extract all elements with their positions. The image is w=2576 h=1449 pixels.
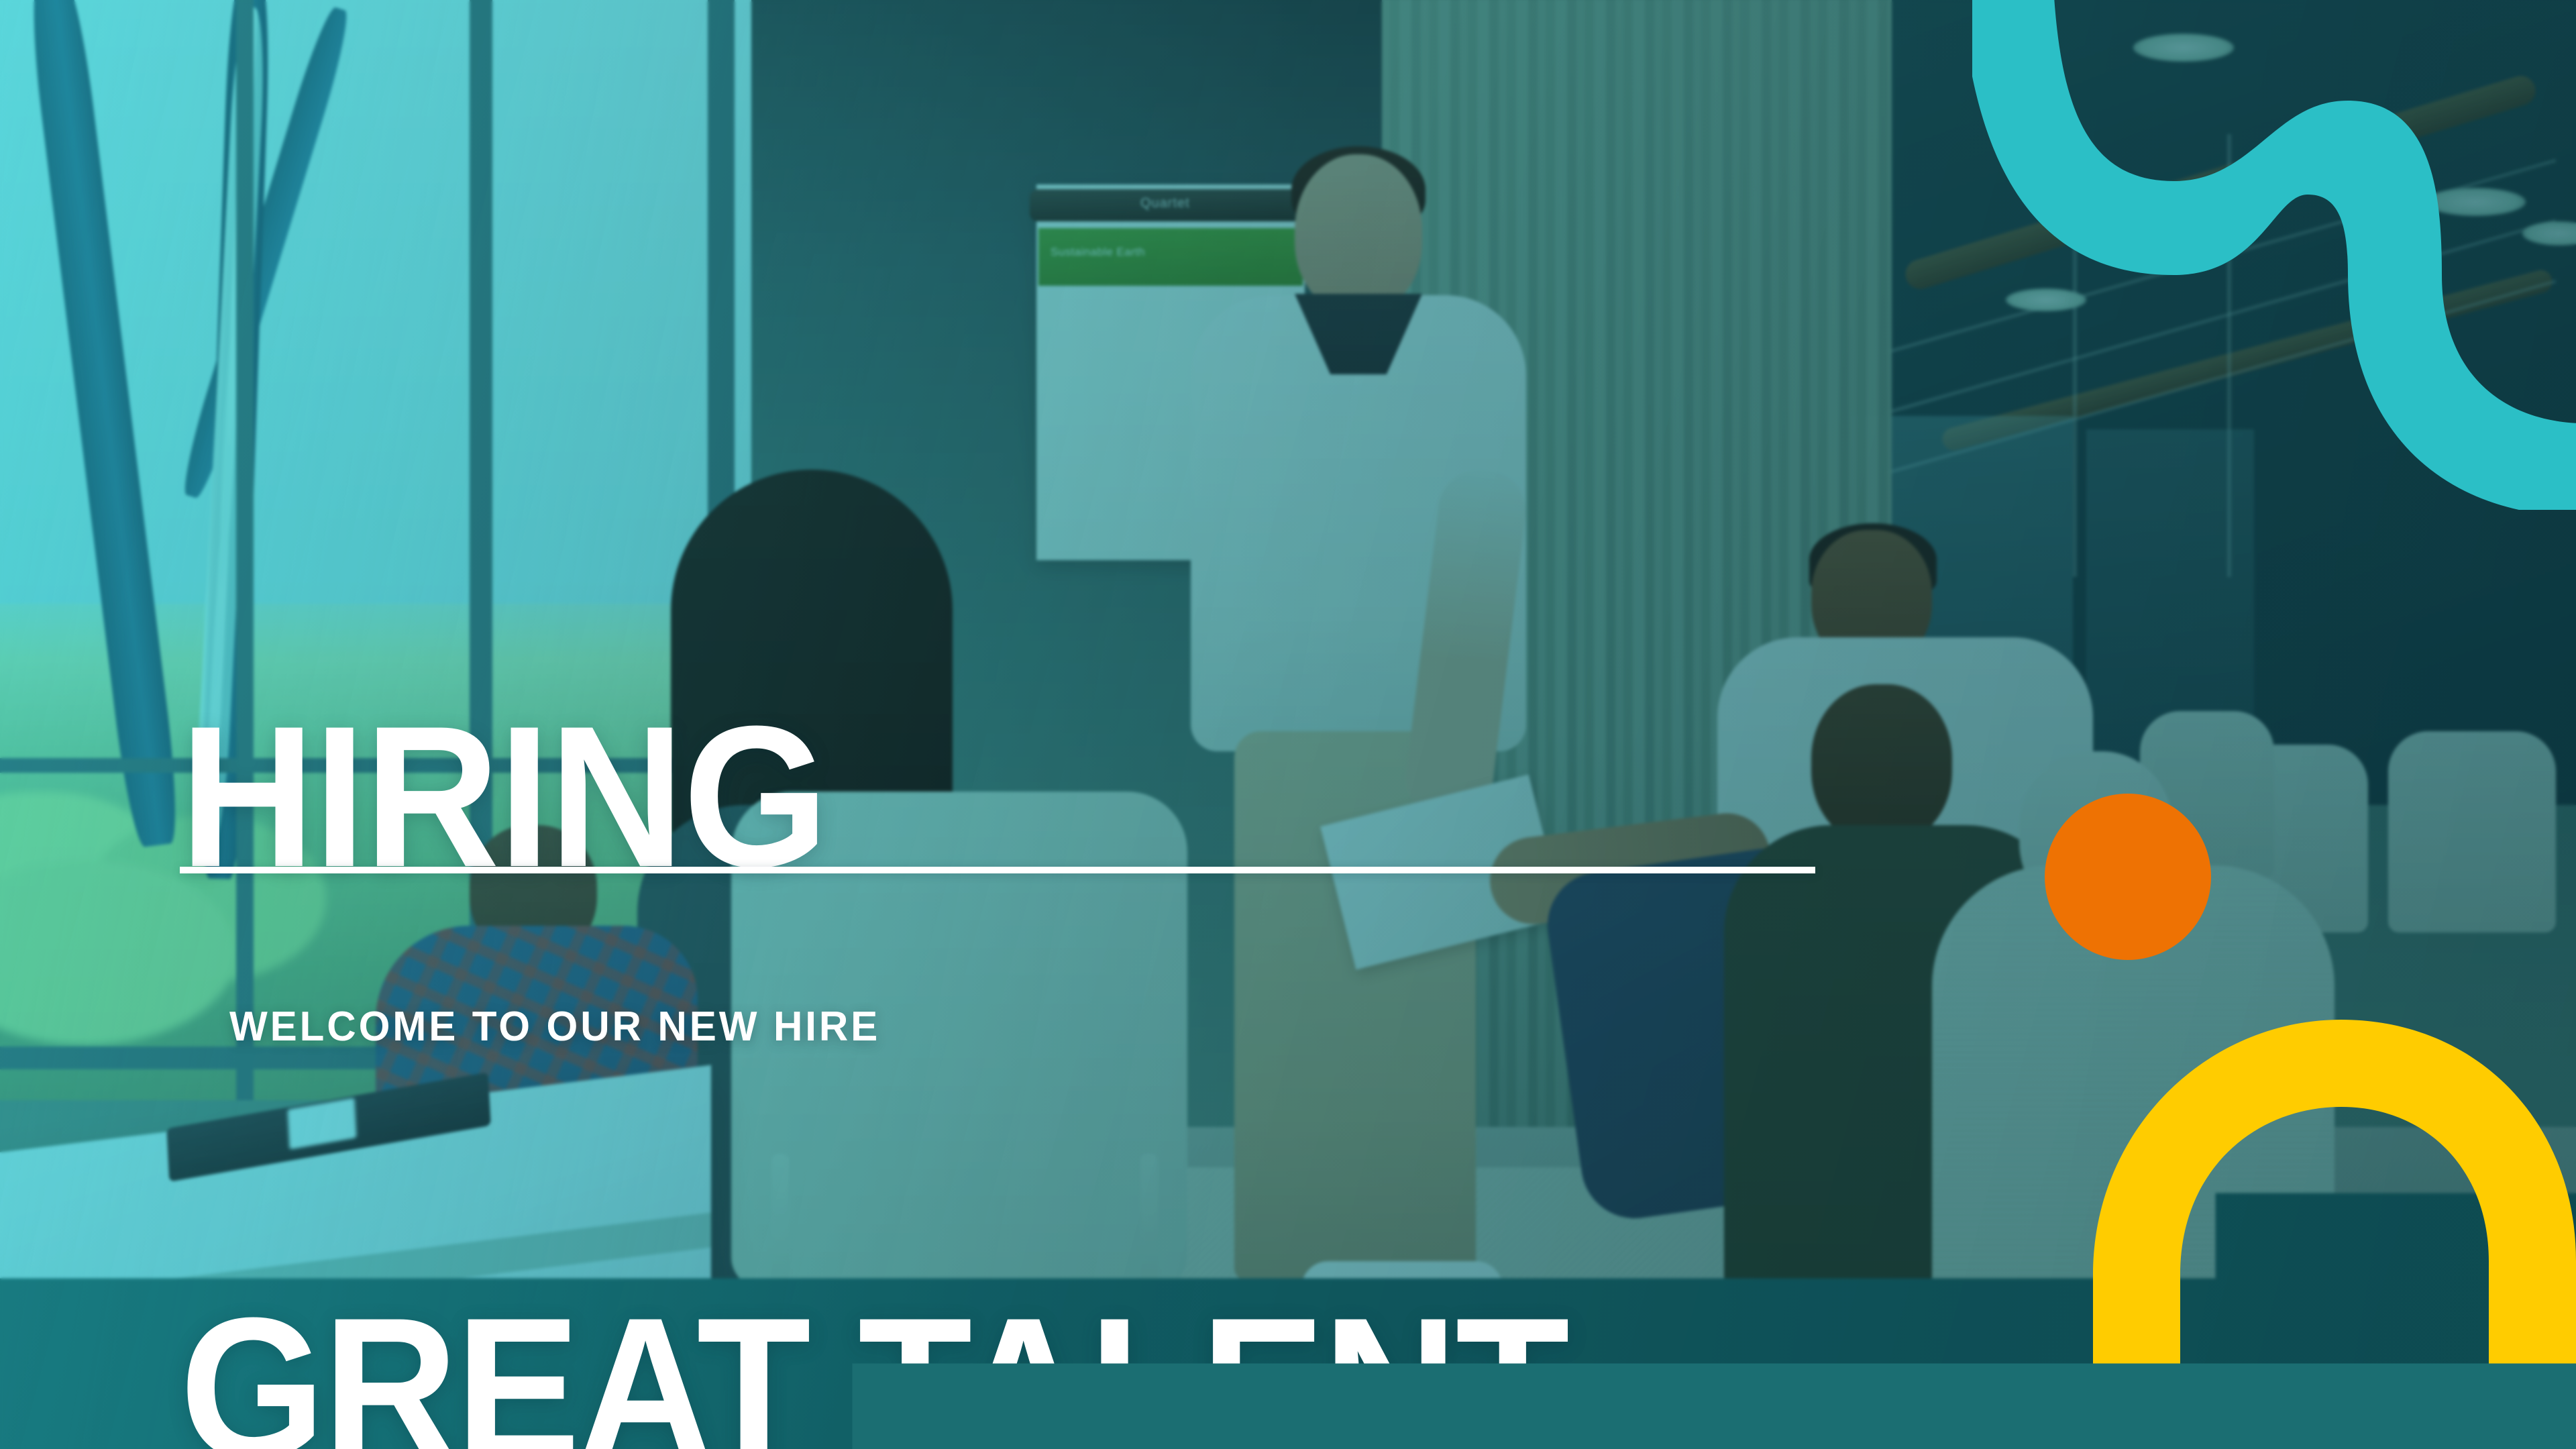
headline: HIRING GREAT TALENT (180, 303, 1567, 1449)
horizontal-rule (180, 867, 1815, 873)
banner-content: HIRING GREAT TALENT WELCOME TO OUR NEW H… (0, 0, 2576, 1449)
headline-line-1: HIRING (180, 698, 1567, 895)
subheadline: WELCOME TO OUR NEW HIRE (229, 1003, 880, 1051)
headline-line-2: GREAT TALENT (180, 1289, 1567, 1449)
hiring-banner: Quartet Sustainable Earth (0, 0, 2576, 1449)
